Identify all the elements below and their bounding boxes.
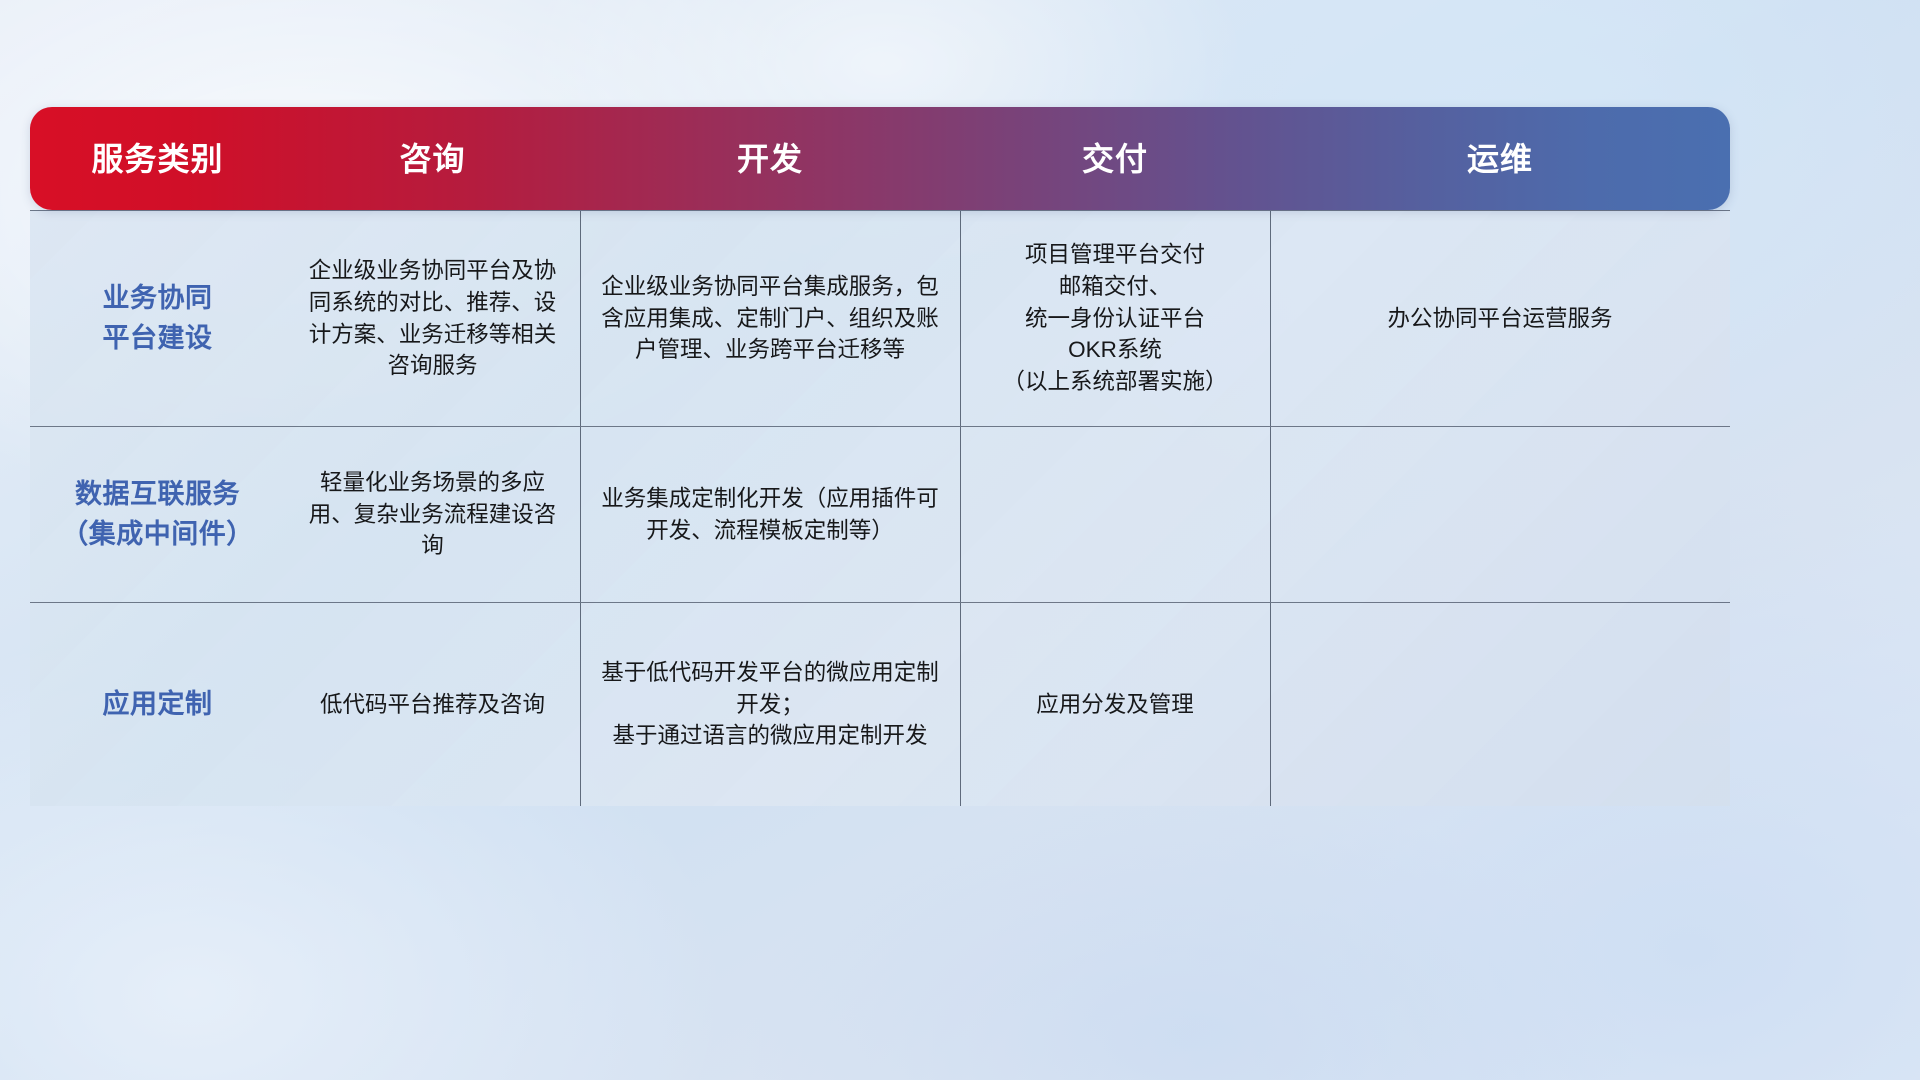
cell-delivery: 项目管理平台交付 邮箱交付、 统一身份认证平台 OKR系统 （以上系统部署实施） (960, 211, 1270, 426)
cell-delivery: 应用分发及管理 (960, 603, 1270, 806)
cell-consulting: 低代码平台推荐及咨询 (285, 603, 580, 806)
header-cell-operations: 运维 (1270, 143, 1730, 175)
table-row: 业务协同 平台建设 企业级业务协同平台及协同系统的对比、推荐、设计方案、业务迁移… (30, 211, 1730, 426)
cell-development: 企业级业务协同平台集成服务，包含应用集成、定制门户、组织及账户管理、业务跨平台迁… (580, 211, 960, 426)
header-cell-consulting: 咨询 (285, 143, 580, 175)
table-row: 数据互联服务 （集成中间件） 轻量化业务场景的多应用、复杂业务流程建设咨询 业务… (30, 426, 1730, 602)
cell-operations (1270, 427, 1730, 602)
service-category-table: 服务类别 咨询 开发 交付 运维 业务协同 平台建设 企业级业务协同平台及协同系… (30, 107, 1730, 806)
header-cell-development: 开发 (580, 143, 960, 175)
cell-consulting: 轻量化业务场景的多应用、复杂业务流程建设咨询 (285, 427, 580, 602)
row-category-label: 业务协同 平台建设 (30, 211, 285, 426)
cell-operations (1270, 603, 1730, 806)
cell-delivery (960, 427, 1270, 602)
table-header-row: 服务类别 咨询 开发 交付 运维 (30, 107, 1730, 210)
cell-development: 基于低代码开发平台的微应用定制开发； 基于通过语言的微应用定制开发 (580, 603, 960, 806)
cell-consulting: 企业级业务协同平台及协同系统的对比、推荐、设计方案、业务迁移等相关咨询服务 (285, 211, 580, 426)
header-cell-service-category: 服务类别 (30, 143, 285, 175)
cell-development: 业务集成定制化开发（应用插件可开发、流程模板定制等） (580, 427, 960, 602)
row-category-label: 应用定制 (30, 603, 285, 806)
table-body: 业务协同 平台建设 企业级业务协同平台及协同系统的对比、推荐、设计方案、业务迁移… (30, 210, 1730, 806)
cell-operations: 办公协同平台运营服务 (1270, 211, 1730, 426)
row-category-label: 数据互联服务 （集成中间件） (30, 427, 285, 602)
table-row: 应用定制 低代码平台推荐及咨询 基于低代码开发平台的微应用定制开发； 基于通过语… (30, 602, 1730, 806)
header-cell-delivery: 交付 (960, 143, 1270, 175)
